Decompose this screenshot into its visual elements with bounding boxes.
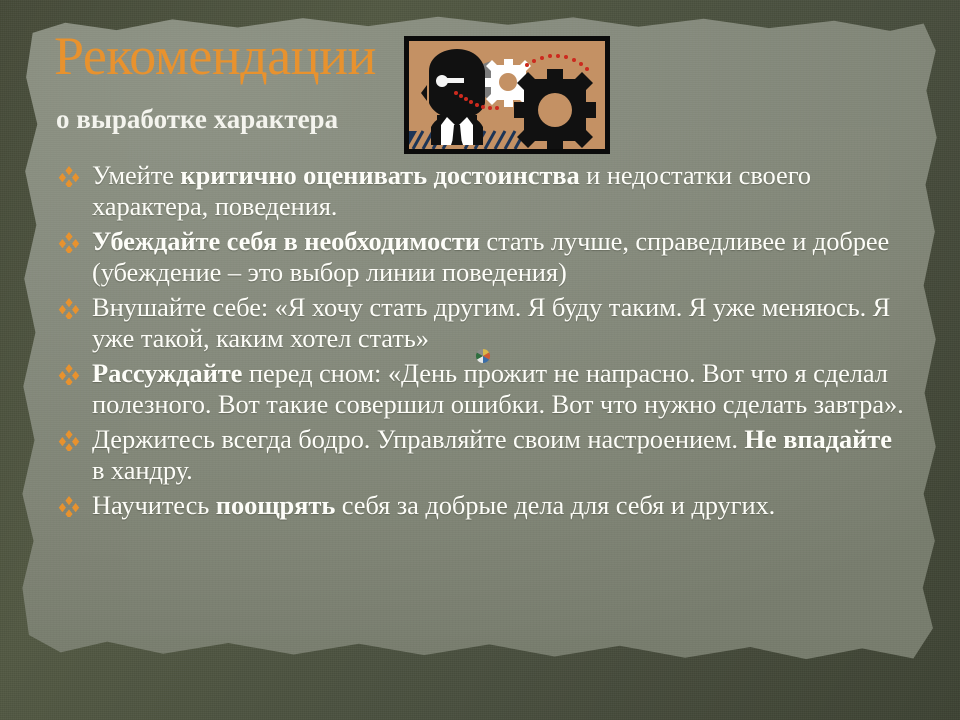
man-head-with-gears-icon bbox=[409, 41, 605, 149]
plain-text: в хандру. bbox=[92, 455, 193, 485]
list-item: Убеждайте себя в необходимости стать луч… bbox=[52, 226, 908, 288]
emphasis-text: Убеждайте себя в необходимости bbox=[92, 226, 480, 256]
list-item: Внушайте себе: «Я хочу стать другим. Я б… bbox=[52, 292, 908, 354]
list-item-text: Держитесь всегда бодро. Управляйте своим… bbox=[92, 424, 892, 485]
emphasis-text: поощрять bbox=[216, 490, 335, 520]
diamond-bullet-icon bbox=[58, 297, 80, 319]
slide-canvas: Рекомендации о выработке характера bbox=[0, 0, 960, 720]
plain-text: себя за добрые дела для себя и других. bbox=[335, 490, 775, 520]
page-subtitle: о выработке характера bbox=[56, 104, 338, 135]
diamond-bullet-icon bbox=[58, 165, 80, 187]
busy-spinner-cursor-icon bbox=[475, 347, 491, 365]
plain-text: Научитесь bbox=[92, 490, 216, 520]
diamond-bullet-icon bbox=[58, 231, 80, 253]
list-item-text: Рассуждайте перед сном: «День прожит не … bbox=[92, 358, 904, 419]
emphasis-text: Не впадайте bbox=[744, 424, 891, 454]
slide-content: Рекомендации о выработке характера bbox=[0, 0, 960, 720]
list-item: Умейте критично оценивать достоинства и … bbox=[52, 160, 908, 222]
diamond-bullet-icon bbox=[58, 495, 80, 517]
diamond-bullet-icon bbox=[58, 429, 80, 451]
emphasis-text: Рассуждайте bbox=[92, 358, 242, 388]
list-item-text: Убеждайте себя в необходимости стать луч… bbox=[92, 226, 889, 287]
plain-text: Умейте bbox=[92, 160, 180, 190]
emphasis-text: критично оценивать достоинства bbox=[180, 160, 579, 190]
plain-text: Внушайте себе: «Я хочу стать другим. Я б… bbox=[92, 292, 890, 353]
page-title: Рекомендации bbox=[54, 28, 376, 84]
list-item: Рассуждайте перед сном: «День прожит не … bbox=[52, 358, 908, 420]
plain-text: Держитесь всегда бодро. Управляйте своим… bbox=[92, 424, 744, 454]
list-item-text: Научитесь поощрять себя за добрые дела д… bbox=[92, 490, 775, 520]
list-item-text: Внушайте себе: «Я хочу стать другим. Я б… bbox=[92, 292, 890, 353]
diamond-bullet-icon bbox=[58, 363, 80, 385]
list-item: Держитесь всегда бодро. Управляйте своим… bbox=[52, 424, 908, 486]
list-item: Научитесь поощрять себя за добрые дела д… bbox=[52, 490, 908, 521]
recommendations-list: Умейте критично оценивать достоинства и … bbox=[52, 160, 908, 525]
list-item-text: Умейте критично оценивать достоинства и … bbox=[92, 160, 811, 221]
illustration-frame bbox=[404, 36, 610, 154]
